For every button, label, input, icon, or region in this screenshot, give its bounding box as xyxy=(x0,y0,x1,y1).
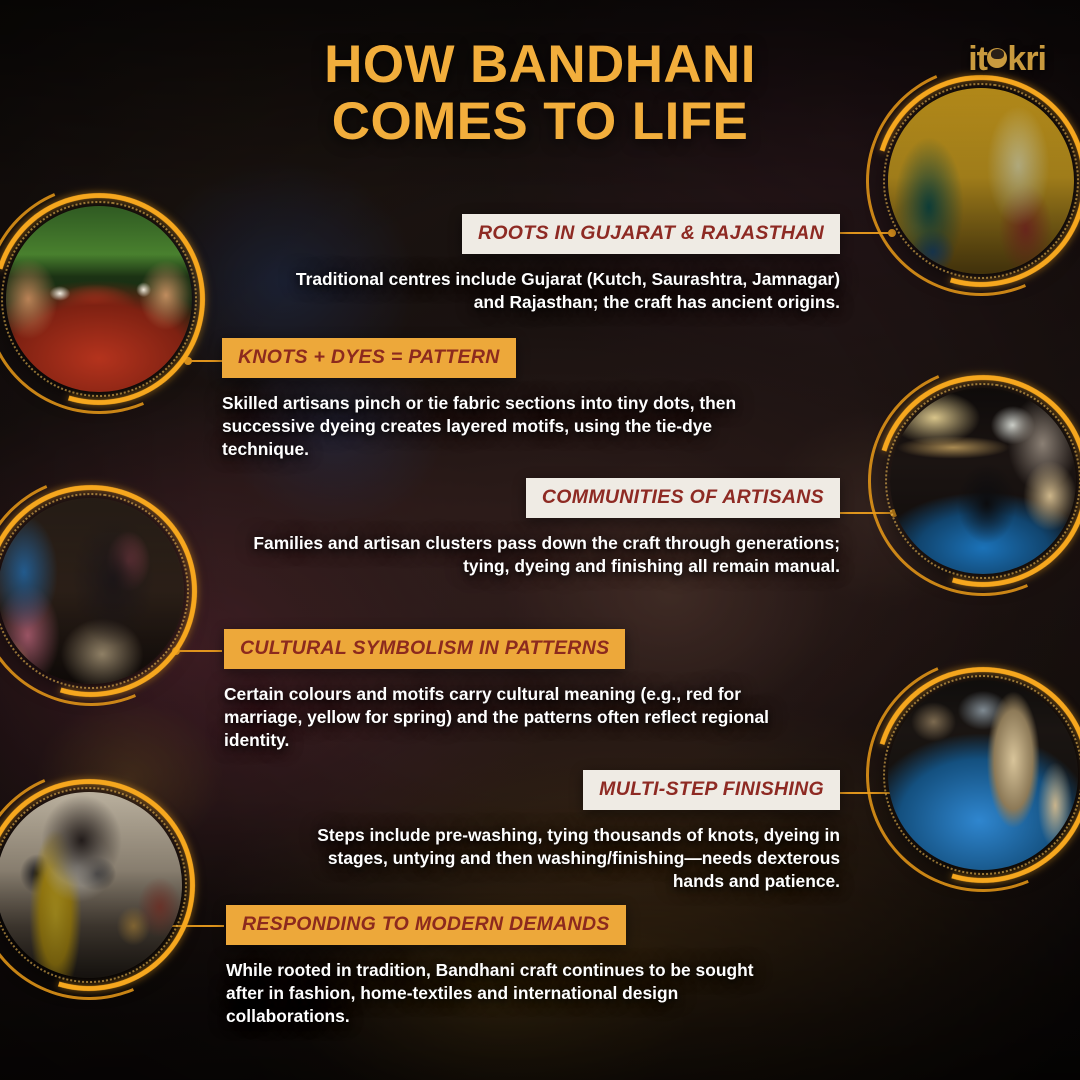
page-title: HOW BANDHANI COMES TO LIFE xyxy=(0,36,1080,150)
section-body-6: While rooted in tradition, Bandhani craf… xyxy=(226,959,786,1028)
section-body-3: Families and artisan clusters pass down … xyxy=(240,532,840,578)
section-body-2: Skilled artisans pinch or tie fabric sec… xyxy=(222,392,802,461)
section-body-5: Steps include pre-washing, tying thousan… xyxy=(300,824,840,893)
page-title-line-1: HOW BANDHANI xyxy=(324,35,756,94)
section-heading-3: COMMUNITIES OF ARTISANS xyxy=(526,478,840,518)
section-heading-2: KNOTS + DYES = PATTERN xyxy=(222,338,516,378)
section-heading-1: ROOTS IN GUJARAT & RAJASTHAN xyxy=(462,214,840,254)
section-communities-of-artisans: COMMUNITIES OF ARTISANS Families and art… xyxy=(240,478,840,578)
section-multi-step-finishing: MULTI-STEP FINISHING Steps include pre-w… xyxy=(300,770,840,893)
photo-dyer-black-gloves-tub xyxy=(890,388,1076,574)
section-heading-6: RESPONDING TO MODERN DEMANDS xyxy=(226,905,626,945)
brand-logo-o-icon xyxy=(987,48,1007,68)
brand-logo-text-post: kri xyxy=(1007,40,1046,78)
section-cultural-symbolism-in-patterns: CULTURAL SYMBOLISM IN PATTERNS Certain c… xyxy=(224,629,784,752)
section-knots-dyes-pattern: KNOTS + DYES = PATTERN Skilled artisans … xyxy=(222,338,802,461)
section-roots-in-gujarat-rajasthan: ROOTS IN GUJARAT & RAJASTHAN Traditional… xyxy=(266,214,840,314)
section-responding-to-modern-demands: RESPONDING TO MODERN DEMANDS While roote… xyxy=(226,905,786,1028)
photo-blue-vat-green-dye xyxy=(888,680,1078,870)
page-title-line-2: COMES TO LIFE xyxy=(0,93,1080,150)
photo-woman-dark-shawl-tying xyxy=(0,498,184,684)
photo-hands-tying-red-fabric xyxy=(6,206,192,392)
brand-logo-text-pre: it xyxy=(968,40,987,78)
section-body-1: Traditional centres include Gujarat (Kut… xyxy=(266,268,840,314)
section-heading-5: MULTI-STEP FINISHING xyxy=(583,770,840,810)
section-body-4: Certain colours and motifs carry cultura… xyxy=(224,683,784,752)
photo-dyer-lifting-yellow-skein xyxy=(0,792,182,978)
section-heading-4: CULTURAL SYMBOLISM IN PATTERNS xyxy=(224,629,625,669)
brand-logo[interactable]: itkri xyxy=(968,40,1046,79)
